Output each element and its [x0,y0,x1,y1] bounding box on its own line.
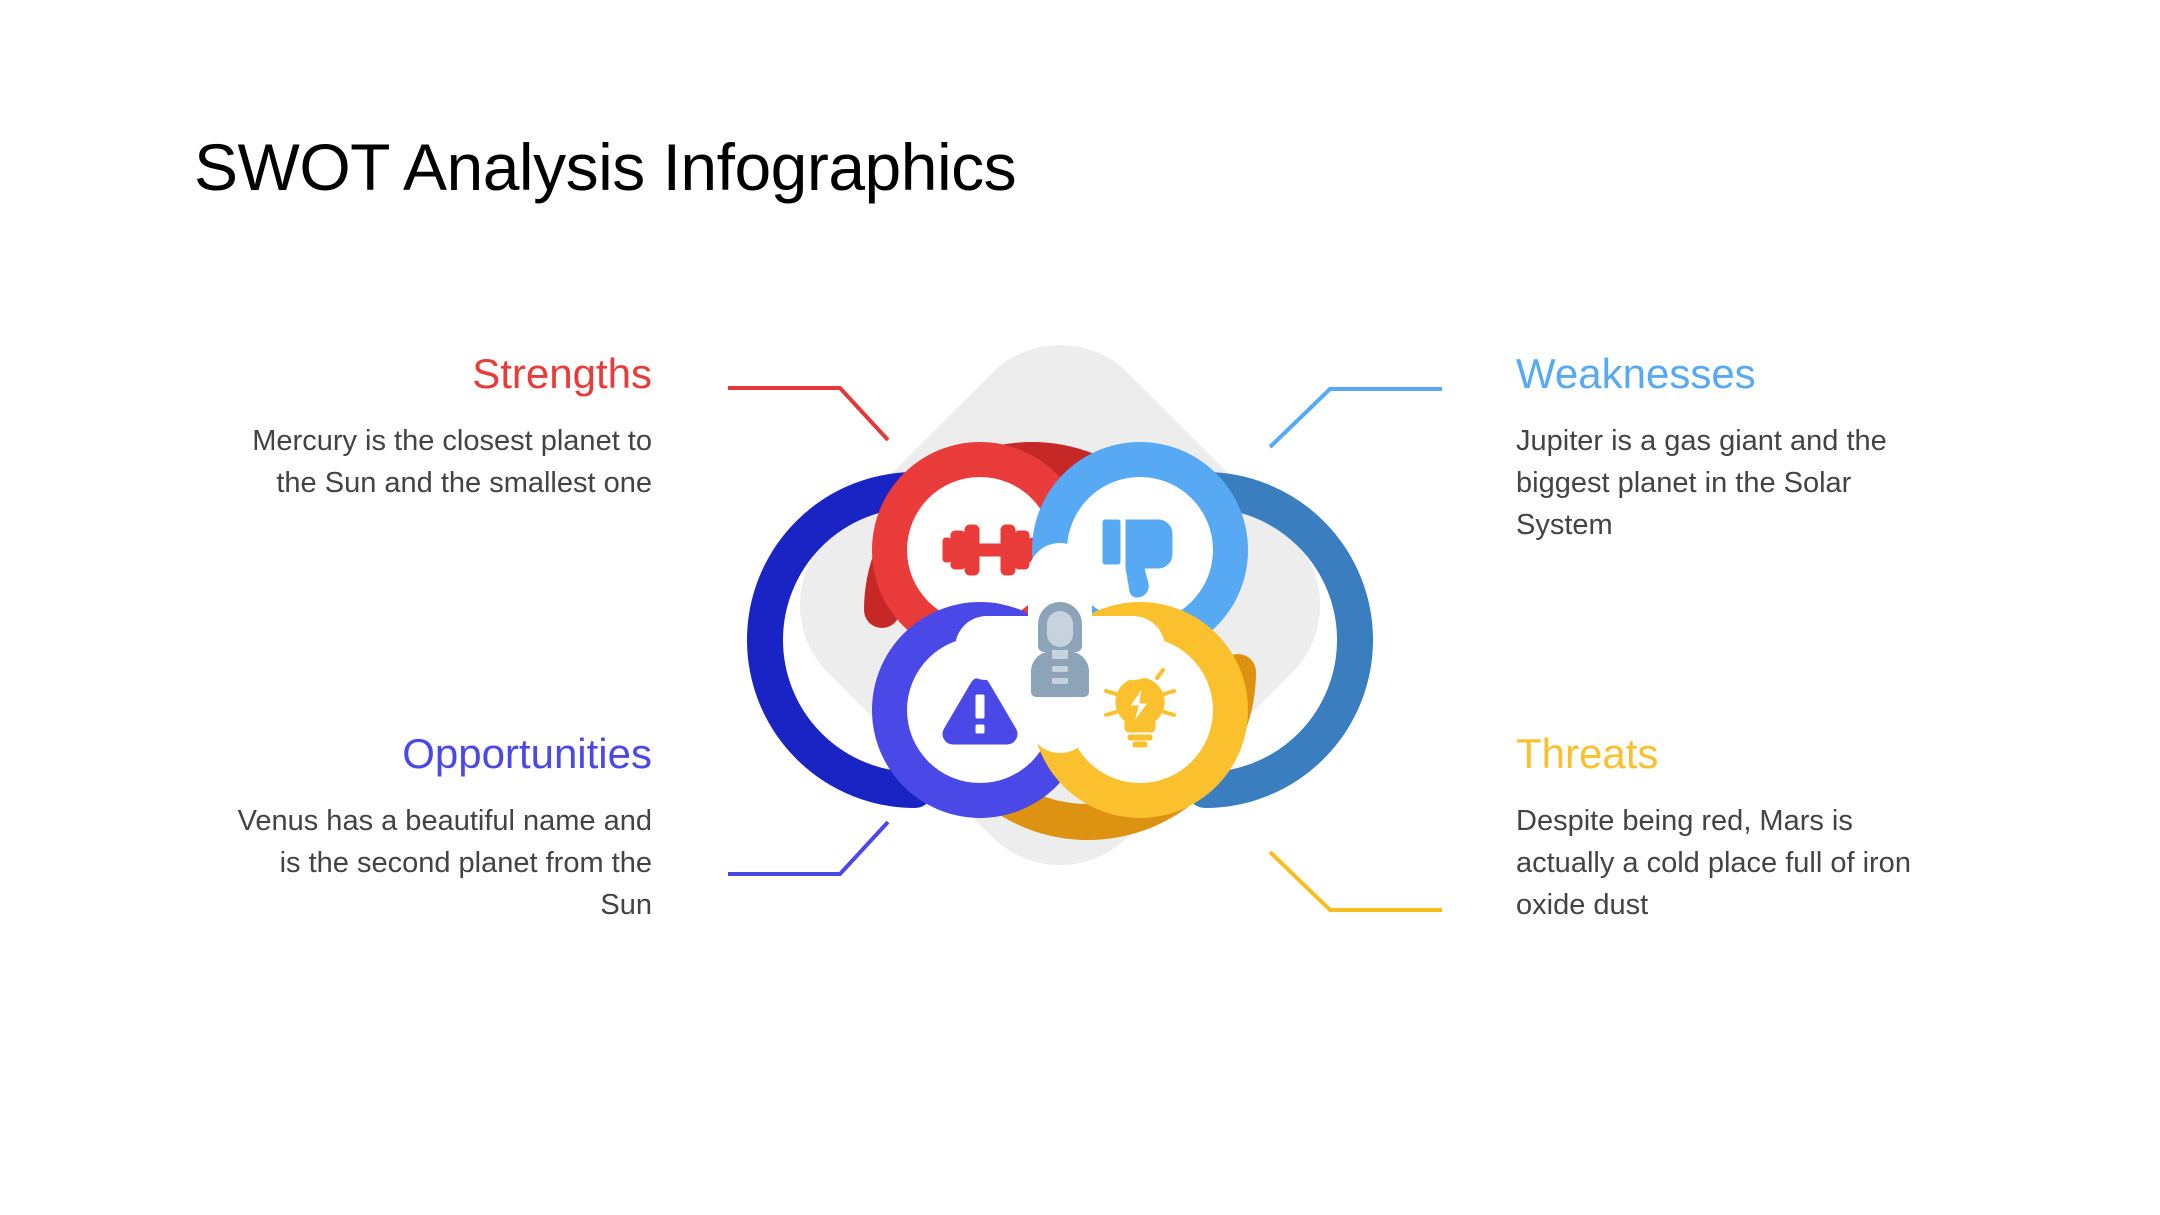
quadrant-weaknesses: Weaknesses Jupiter is a gas giant and th… [1516,350,1936,546]
person-icon [1031,602,1089,697]
quadrant-weaknesses-body: Jupiter is a gas giant and the biggest p… [1516,420,1936,546]
quadrant-strengths-heading: Strengths [232,350,652,398]
page-title: SWOT Analysis Infographics [194,128,1016,207]
quadrant-opportunities: Opportunities Venus has a beautiful name… [232,730,652,926]
quadrant-strengths: Strengths Mercury is the closest planet … [232,350,652,504]
quadrant-threats: Threats Despite being red, Mars is actua… [1516,730,1936,926]
quadrant-threats-heading: Threats [1516,730,1936,778]
connector-opportunities [728,822,888,874]
quadrant-strengths-body: Mercury is the closest planet to the Sun… [232,420,652,504]
connector-strengths [728,388,888,440]
swot-diagram [660,280,1460,1020]
quadrant-weaknesses-heading: Weaknesses [1516,350,1936,398]
quadrant-opportunities-heading: Opportunities [232,730,652,778]
quadrant-opportunities-body: Venus has a beautiful name and is the se… [232,800,652,926]
quadrant-threats-body: Despite being red, Mars is actually a co… [1516,800,1936,926]
connector-threats [1270,852,1442,910]
connector-weaknesses [1270,389,1442,447]
